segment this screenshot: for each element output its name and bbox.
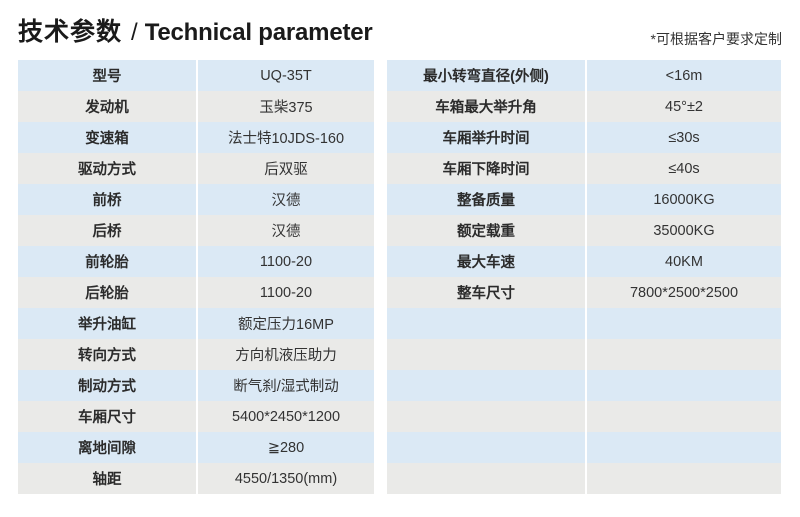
spec-value: 4550/1350(mm) (198, 463, 374, 494)
right-spec-table: 最小转弯直径(外侧)<16m车箱最大举升角45°±2车厢举升时间≤30s车厢下降… (387, 60, 781, 494)
spec-value: 1100-20 (198, 277, 374, 308)
spec-label: 轴距 (18, 463, 196, 494)
page-header: 技术参数 / Technical parameter *可根据客户要求定制 (18, 12, 782, 52)
table-row: 车箱最大举升角45°±2 (387, 91, 781, 122)
spec-value: 40KM (587, 246, 781, 277)
table-row: 后轮胎1100-20 (18, 277, 374, 308)
spec-value (587, 370, 781, 401)
spec-label (387, 401, 585, 432)
page-title-en: Technical parameter (145, 19, 373, 47)
table-row: 转向方式方向机液压助力 (18, 339, 374, 370)
spec-label: 举升油缸 (18, 308, 196, 339)
spec-label (387, 370, 585, 401)
table-row (387, 463, 781, 494)
spec-label: 变速箱 (18, 122, 196, 153)
page-title: 技术参数 / Technical parameter (18, 12, 373, 48)
table-row: 前桥汉德 (18, 184, 374, 215)
spec-value: 后双驱 (198, 153, 374, 184)
page-title-cn: 技术参数 (18, 12, 122, 48)
spec-label: 后桥 (18, 215, 196, 246)
spec-value: 7800*2500*2500 (587, 277, 781, 308)
spec-label: 车厢下降时间 (387, 153, 585, 184)
spec-label: 型号 (18, 60, 196, 91)
table-row: 最大车速40KM (387, 246, 781, 277)
table-row: 车厢下降时间≤40s (387, 153, 781, 184)
spec-label: 整备质量 (387, 184, 585, 215)
spec-value: 45°±2 (587, 91, 781, 122)
spec-label: 整车尺寸 (387, 277, 585, 308)
spec-value (587, 401, 781, 432)
table-row: 驱动方式后双驱 (18, 153, 374, 184)
spec-label: 前轮胎 (18, 246, 196, 277)
table-row: 前轮胎1100-20 (18, 246, 374, 277)
customization-note: *可根据客户要求定制 (651, 29, 782, 49)
table-row: 制动方式断气刹/湿式制动 (18, 370, 374, 401)
spec-label: 车箱最大举升角 (387, 91, 585, 122)
table-row: 最小转弯直径(外侧)<16m (387, 60, 781, 91)
spec-value: 汉德 (198, 215, 374, 246)
table-row: 型号UQ-35T (18, 60, 374, 91)
spec-label: 后轮胎 (18, 277, 196, 308)
spec-label (387, 339, 585, 370)
spec-label (387, 308, 585, 339)
left-spec-table: 型号UQ-35T发动机玉柴375变速箱法士特10JDS-160驱动方式后双驱前桥… (18, 60, 374, 494)
spec-label: 驱动方式 (18, 153, 196, 184)
spec-label: 转向方式 (18, 339, 196, 370)
spec-value: 玉柴375 (198, 91, 374, 122)
spec-value (587, 339, 781, 370)
spec-label: 制动方式 (18, 370, 196, 401)
spec-label: 离地间隙 (18, 432, 196, 463)
spec-value: 额定压力16MP (198, 308, 374, 339)
table-row: 整备质量16000KG (387, 184, 781, 215)
table-row: 离地间隙≧280 (18, 432, 374, 463)
table-row (387, 370, 781, 401)
title-separator: / (131, 19, 138, 47)
spec-label: 最大车速 (387, 246, 585, 277)
table-row: 发动机玉柴375 (18, 91, 374, 122)
spec-label: 额定载重 (387, 215, 585, 246)
spec-value: ≤30s (587, 122, 781, 153)
technical-parameter-sheet: 技术参数 / Technical parameter *可根据客户要求定制 型号… (0, 0, 800, 517)
spec-value: 35000KG (587, 215, 781, 246)
table-row (387, 432, 781, 463)
table-row (387, 339, 781, 370)
spec-label: 前桥 (18, 184, 196, 215)
table-row: 轴距4550/1350(mm) (18, 463, 374, 494)
spec-value: ≧280 (198, 432, 374, 463)
spec-label: 车厢尺寸 (18, 401, 196, 432)
spec-value (587, 432, 781, 463)
table-row: 额定载重35000KG (387, 215, 781, 246)
spec-value: 汉德 (198, 184, 374, 215)
table-row (387, 401, 781, 432)
spec-label (387, 463, 585, 494)
spec-value (587, 463, 781, 494)
spec-label: 最小转弯直径(外侧) (387, 60, 585, 91)
spec-value: <16m (587, 60, 781, 91)
table-row: 后桥汉德 (18, 215, 374, 246)
specs-tables-container: 型号UQ-35T发动机玉柴375变速箱法士特10JDS-160驱动方式后双驱前桥… (18, 60, 782, 494)
table-row: 变速箱法士特10JDS-160 (18, 122, 374, 153)
spec-label (387, 432, 585, 463)
spec-value: 1100-20 (198, 246, 374, 277)
spec-value (587, 308, 781, 339)
table-row: 车厢举升时间≤30s (387, 122, 781, 153)
spec-value: 16000KG (587, 184, 781, 215)
table-row: 举升油缸额定压力16MP (18, 308, 374, 339)
spec-value: UQ-35T (198, 60, 374, 91)
table-row: 整车尺寸7800*2500*2500 (387, 277, 781, 308)
spec-value: 断气刹/湿式制动 (198, 370, 374, 401)
spec-value: ≤40s (587, 153, 781, 184)
spec-value: 5400*2450*1200 (198, 401, 374, 432)
spec-value: 方向机液压助力 (198, 339, 374, 370)
spec-label: 车厢举升时间 (387, 122, 585, 153)
spec-value: 法士特10JDS-160 (198, 122, 374, 153)
table-row (387, 308, 781, 339)
spec-label: 发动机 (18, 91, 196, 122)
table-row: 车厢尺寸5400*2450*1200 (18, 401, 374, 432)
